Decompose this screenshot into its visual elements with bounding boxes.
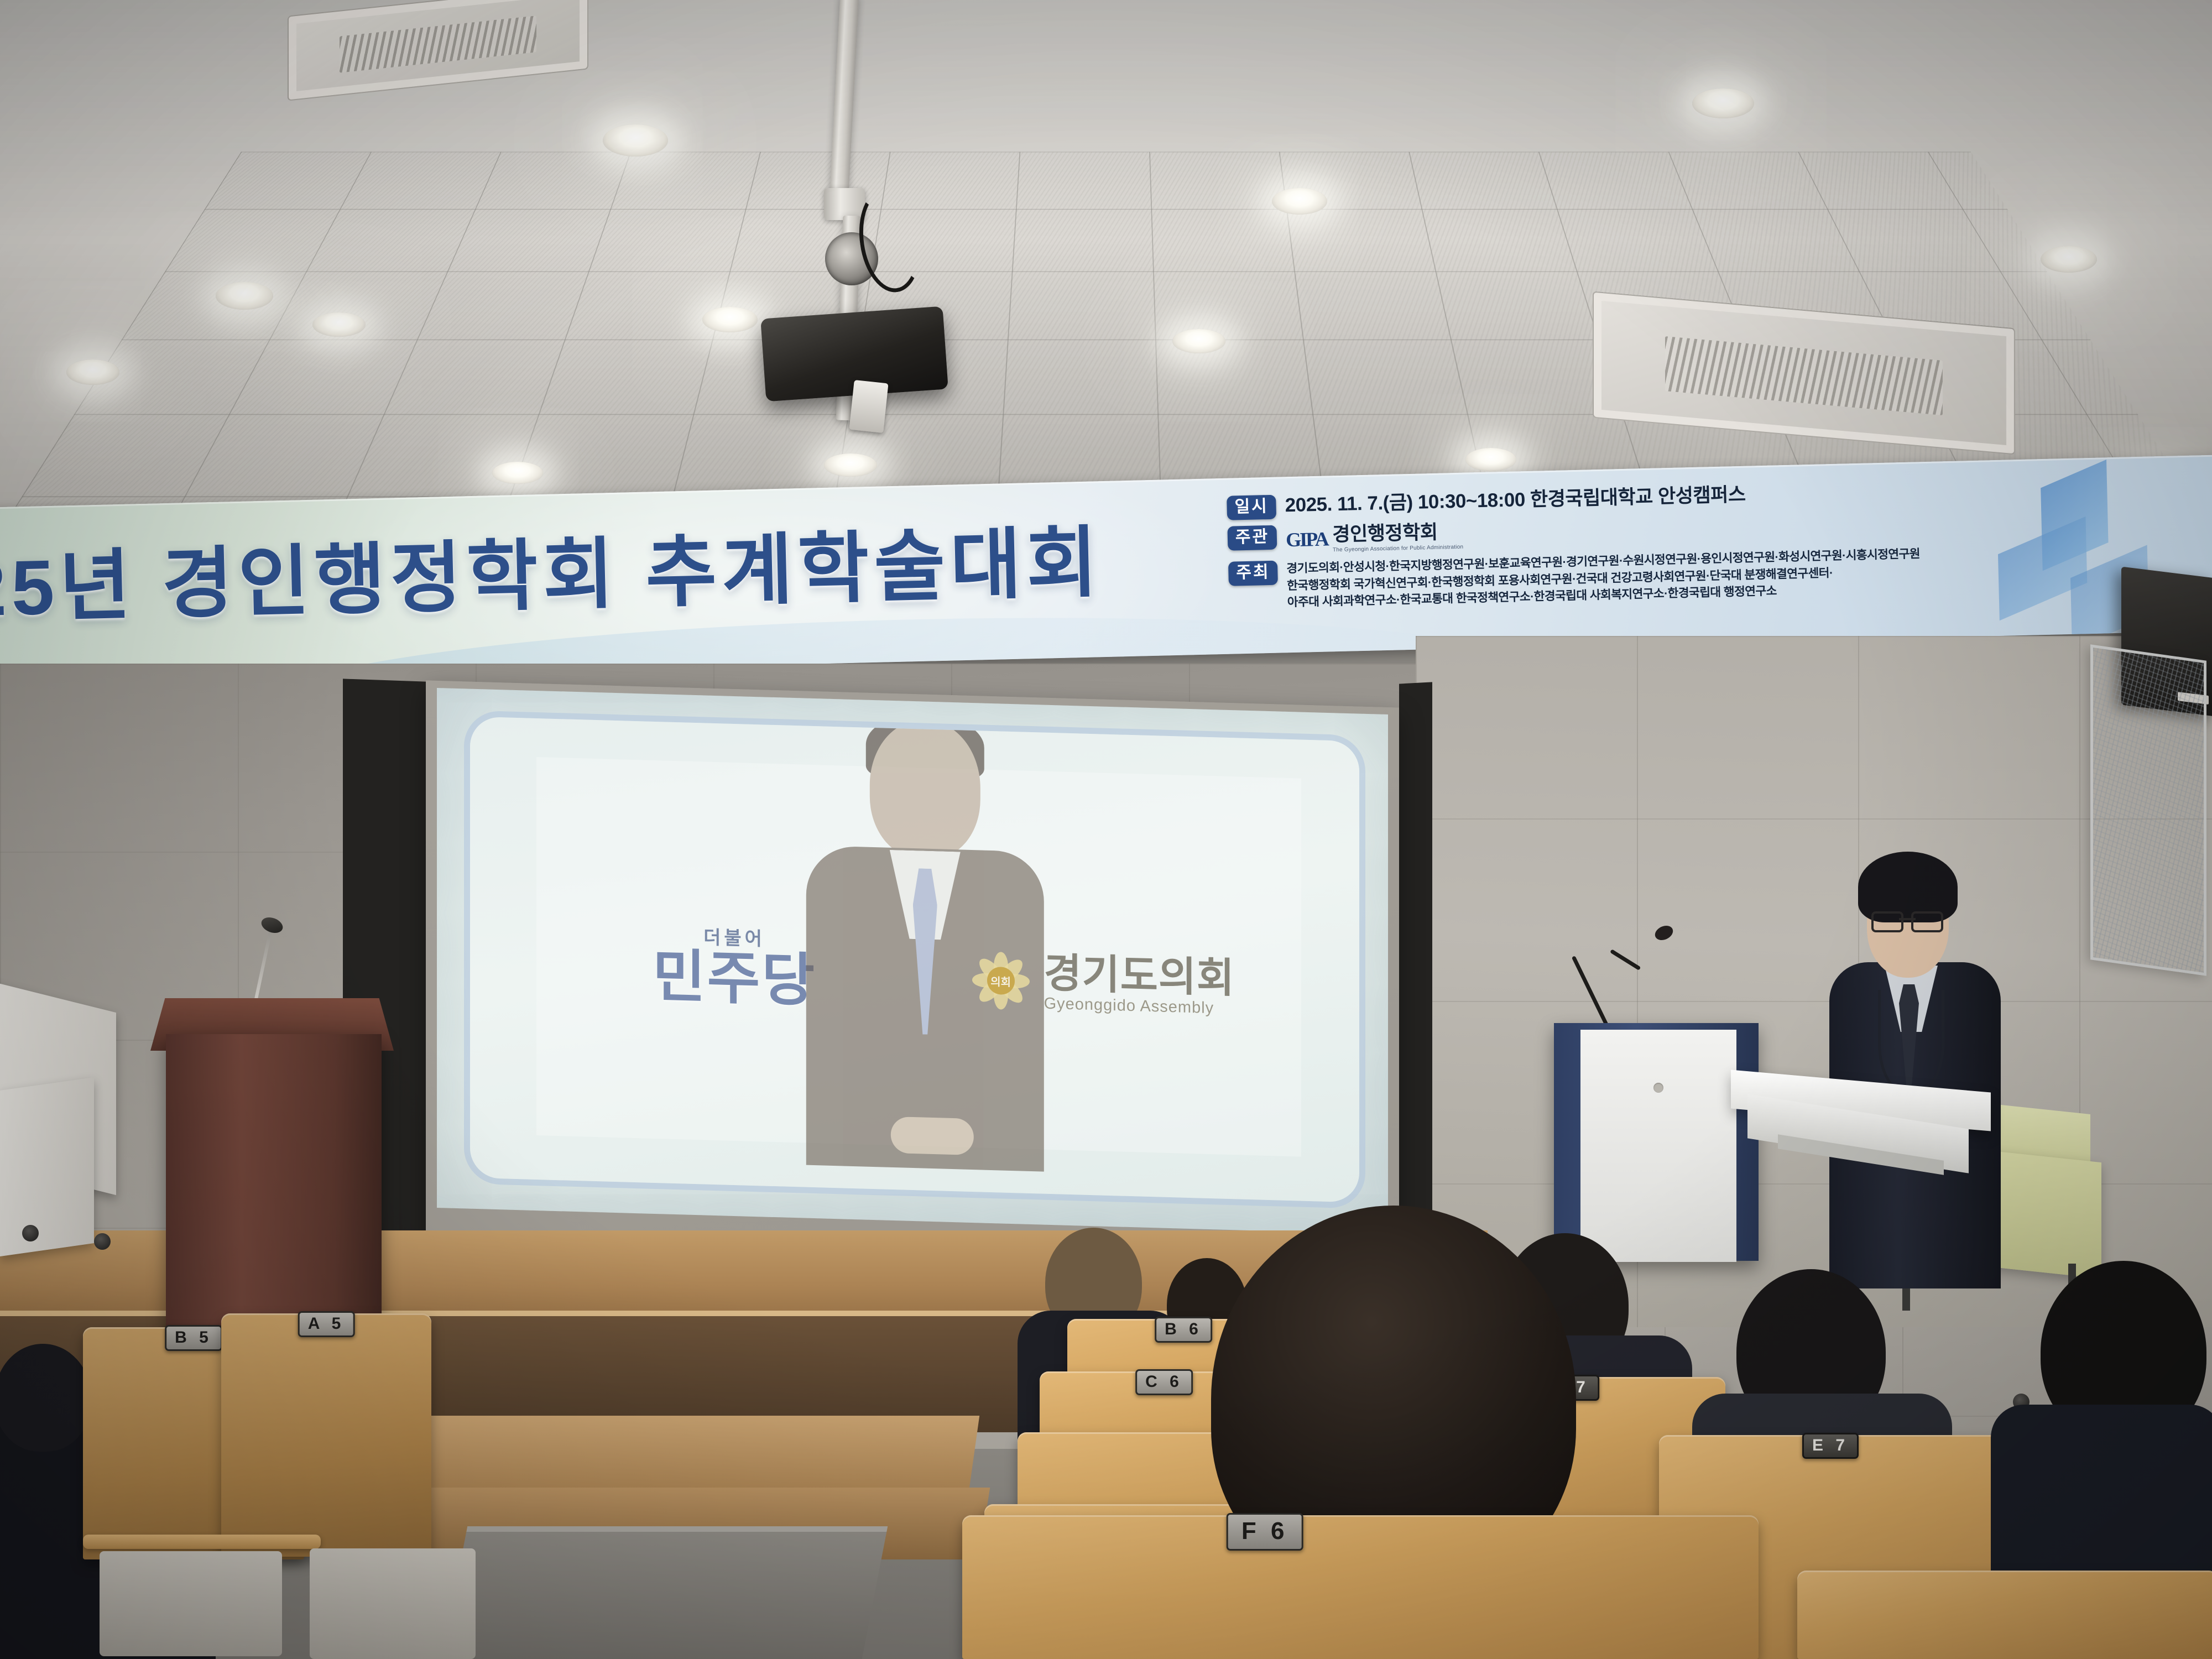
- party-logo-main: 민주당: [653, 948, 816, 1010]
- banner-host-tag: 주최: [1228, 561, 1278, 586]
- seat-label: B 5: [165, 1325, 222, 1351]
- seat[interactable]: A 5: [221, 1313, 431, 1557]
- downlight: [702, 307, 758, 332]
- downlight: [312, 312, 366, 337]
- downlight: [492, 462, 543, 484]
- lectern-button-icon[interactable]: [1653, 1083, 1663, 1093]
- navy-lectern-panel: [1580, 1030, 1736, 1262]
- downlight: [1465, 448, 1516, 471]
- downlight: [2041, 246, 2097, 273]
- slide-person-hands: [891, 1117, 974, 1155]
- wooden-podium: [166, 1034, 382, 1333]
- banner-organizer-value: 경인행정학회: [1332, 521, 1438, 545]
- banner-organizer-tag: 주관: [1227, 525, 1277, 551]
- gipa-english-name: The Gyeongin Association for Public Admi…: [1333, 544, 1463, 554]
- projection-screen: 더불어 민주당: [437, 688, 1388, 1234]
- seat-label: F 6: [1227, 1513, 1303, 1551]
- gipa-mark: GIPA: [1286, 527, 1328, 551]
- seat[interactable]: F 6: [962, 1515, 1759, 1659]
- seat-label: E 7: [1802, 1433, 1859, 1459]
- seat-cushion: [100, 1551, 282, 1656]
- banner-host-row: 주최 경기도의회·안성시청·한국지방행정연구원·보훈교육연구원·경기연구원·수원…: [1228, 544, 1981, 613]
- gipa-logo: GIPA 경인행정학회 The Gyeongin Association for…: [1286, 521, 1464, 555]
- projected-slide: 더불어 민주당: [470, 717, 1359, 1203]
- assembly-name-ko: 경기도의회: [1044, 951, 1235, 1001]
- seat-armrest: [83, 1535, 321, 1549]
- seat[interactable]: [1797, 1571, 2212, 1659]
- banner-info-block: 일시 2025. 11. 7.(금) 10:30~18:00 한경국립대학교 안…: [1227, 478, 1981, 619]
- projector-plug: [849, 380, 888, 433]
- downlight: [1272, 188, 1327, 215]
- downlight: [1692, 88, 1754, 118]
- banner-date-value: 2025. 11. 7.(금) 10:30~18:00 한경국립대학교 안성캠퍼…: [1285, 484, 1746, 517]
- speaker-glasses-icon: [1871, 911, 1943, 928]
- sponsor-list: 경기도의회·안성시청·한국지방행정연구원·보훈교육연구원·경기연구원·수원시정연…: [1286, 545, 1921, 611]
- auditorium-photo: 25년 경인행정학회 추계학술대회 일시 2025. 11. 7.(금) 10:…: [0, 0, 2212, 1659]
- gyeonggido-assembly-logo: 의회 경기도의회 Gyeonggido Assembly: [970, 949, 1235, 1018]
- downlight: [1172, 329, 1225, 353]
- democratic-party-logo: 더불어 민주당: [653, 921, 816, 1010]
- speaker-lanyard: [1878, 990, 1944, 1098]
- sunflower-emblem-icon: 의회: [970, 949, 1032, 1013]
- downlight: [603, 124, 668, 156]
- downlight: [824, 453, 877, 477]
- speaker-person: [1825, 852, 2007, 1288]
- seat-label: A 5: [298, 1311, 355, 1337]
- slide-person-head: [870, 719, 980, 860]
- seat-cushion: [310, 1548, 476, 1659]
- right-window: [2090, 644, 2206, 976]
- slide-person-figure: [795, 717, 1055, 1172]
- attendee-head: [0, 1344, 91, 1452]
- table-caster: [22, 1225, 39, 1241]
- stage-ramp: [440, 1526, 888, 1659]
- seat-label: B 6: [1155, 1317, 1212, 1343]
- assembly-logo-text: 경기도의회 Gyeonggido Assembly: [1044, 951, 1235, 1018]
- banner-date-tag: 일시: [1227, 495, 1276, 520]
- wall-dark-trim: [1399, 682, 1432, 1242]
- downlight: [66, 359, 119, 385]
- folded-table: [0, 1077, 94, 1256]
- seat-label: C 6: [1135, 1369, 1193, 1395]
- table-caster: [94, 1233, 111, 1250]
- downlight: [216, 282, 273, 310]
